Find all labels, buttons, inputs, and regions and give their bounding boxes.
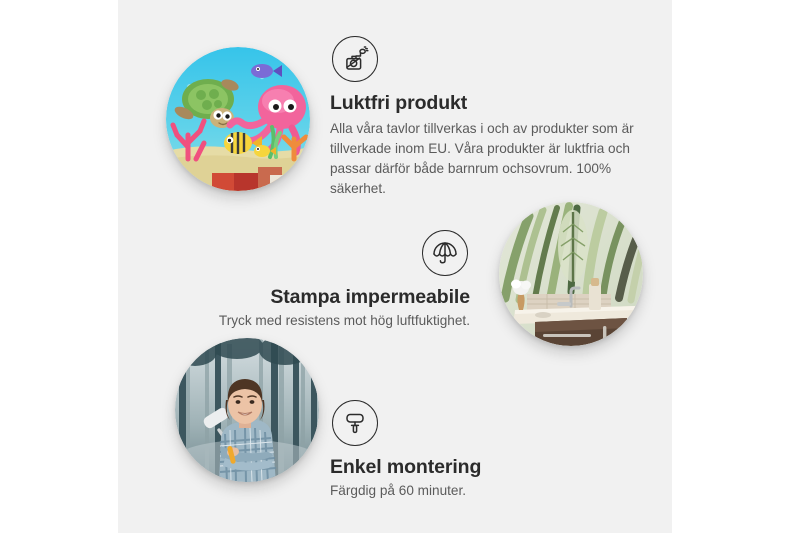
feature-title: Enkel montering (330, 456, 610, 479)
feature-title: Luktfri produkt (330, 92, 640, 115)
umbrella-icon (422, 230, 468, 276)
no-fragrance-icon (332, 36, 378, 82)
paint-roller-icon (332, 400, 378, 446)
painter-forest-photo (175, 338, 319, 482)
bathroom-wallpaper-photo (499, 202, 643, 346)
underwater-cartoon-photo (166, 47, 310, 191)
feature-block-odour: Luktfri produkt Alla våra tavlor tillver… (330, 36, 640, 198)
feature-body: Tryck med resistens mot hög luftfuktighe… (205, 311, 470, 331)
feature-block-mounting: Enkel montering Färgdig på 60 minuter. (330, 400, 610, 501)
infographic-canvas: Luktfri produkt Alla våra tavlor tillver… (0, 0, 800, 533)
feature-body: Färgdig på 60 minuter. (330, 481, 610, 501)
feature-title: Stampa impermeabile (205, 286, 470, 309)
feature-block-waterproof: Stampa impermeabile Tryck med resistens … (205, 230, 470, 331)
feature-body: Alla våra tavlor tillverkas i och av pro… (330, 119, 640, 198)
